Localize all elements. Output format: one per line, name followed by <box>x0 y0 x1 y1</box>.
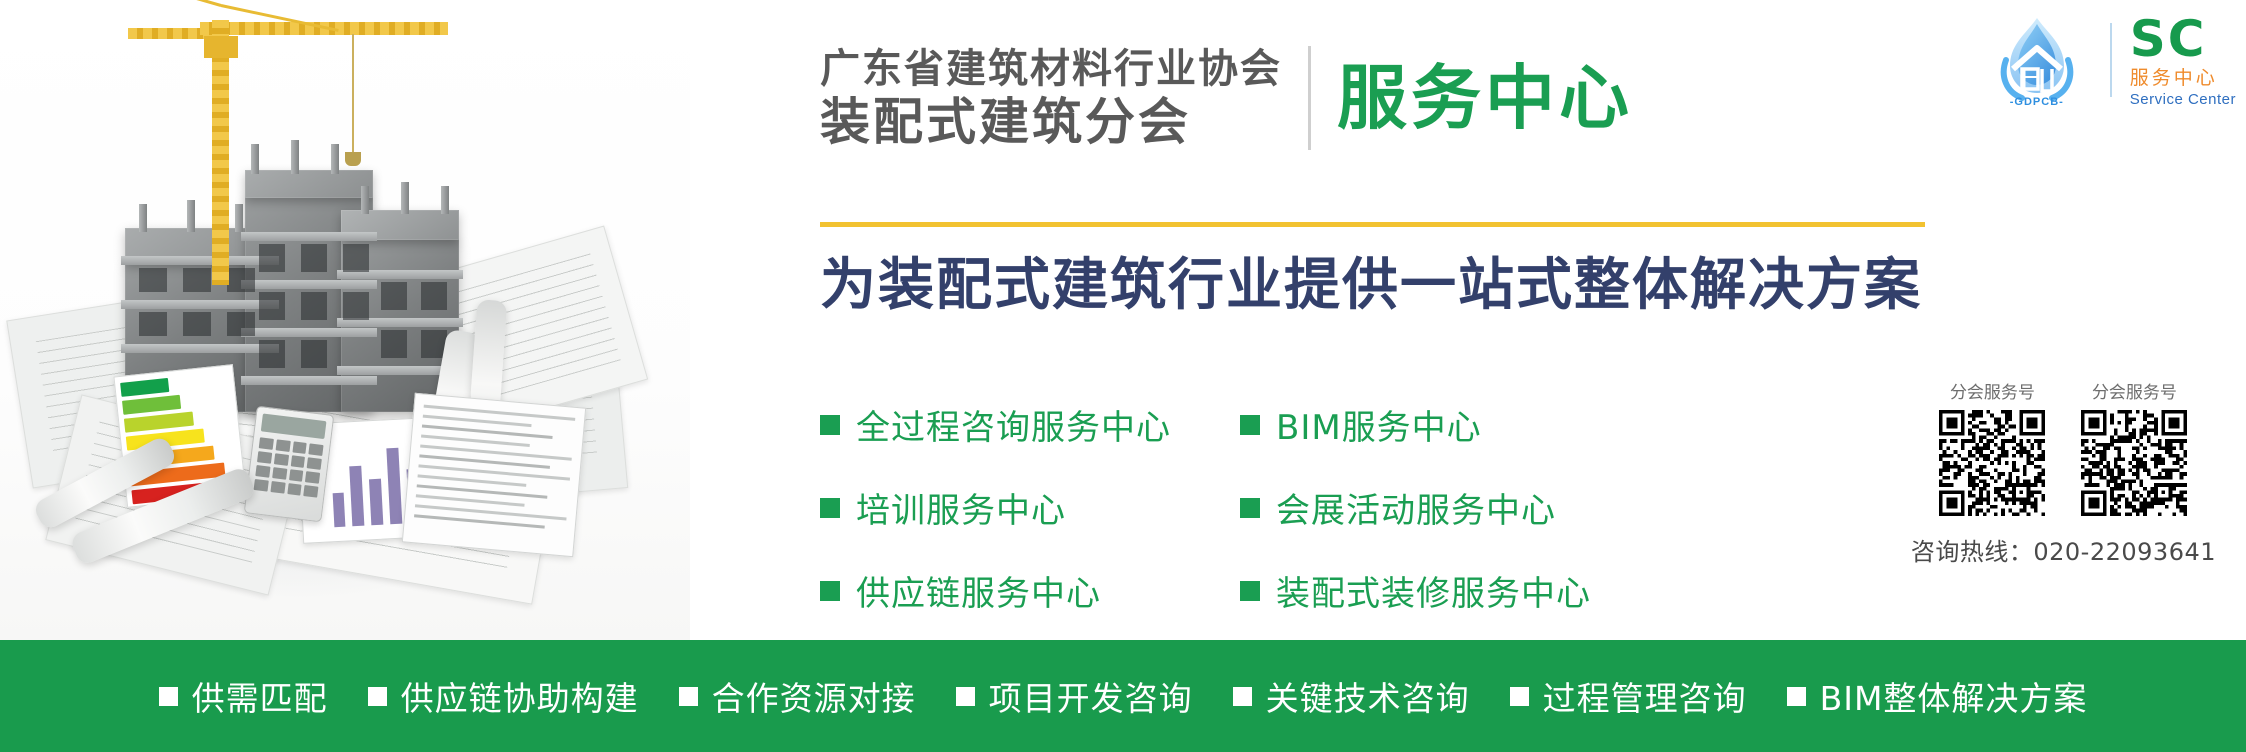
footer-item-4[interactable]: 项目开发咨询 <box>956 672 1193 720</box>
square-bullet-icon <box>368 687 387 706</box>
service-list: 全过程咨询服务中心 BIM服务中心 培训服务中心 会展活动服务中心 供应链服务中… <box>820 400 1880 615</box>
qr-code-image[interactable] <box>1939 410 2045 516</box>
service-item-label: 供应链服务中心 <box>856 566 1101 615</box>
service-item-label: 装配式装修服务中心 <box>1276 566 1591 615</box>
footer-keyword-bar: 供需匹配 供应链协助构建 合作资源对接 项目开发咨询 关键技术咨询 过程管理咨询… <box>0 640 2246 752</box>
square-bullet-icon <box>820 581 840 601</box>
footer-item-2[interactable]: 供应链协助构建 <box>368 672 639 720</box>
square-bullet-icon <box>1510 687 1529 706</box>
hotline-text: 咨询热线：020-22093641 <box>1911 532 2216 567</box>
square-bullet-icon <box>679 687 698 706</box>
logo-english-text: Service Center <box>2130 92 2236 107</box>
square-bullet-icon <box>820 415 840 435</box>
square-bullet-icon <box>159 687 178 706</box>
footer-item-7[interactable]: BIM整体解决方案 <box>1787 672 2088 720</box>
square-bullet-icon <box>820 498 840 518</box>
subtitle: 为装配式建筑行业提供一站式整体解决方案 <box>820 252 1922 319</box>
crane-cab <box>204 36 238 58</box>
square-bullet-icon <box>956 687 975 706</box>
content-area: 广东省建筑材料行业协会 装配式建筑分会 服务中心 为装配式建筑行业提供一站式整体… <box>690 0 2246 640</box>
square-bullet-icon <box>1233 687 1252 706</box>
square-bullet-icon <box>1240 415 1260 435</box>
footer-item-label: 关键技术咨询 <box>1266 672 1470 720</box>
square-bullet-icon <box>1240 498 1260 518</box>
building-model <box>95 110 490 410</box>
service-item-6[interactable]: 装配式装修服务中心 <box>1240 566 1660 615</box>
crane-hook <box>345 152 361 166</box>
footer-item-label: BIM整体解决方案 <box>1820 672 2088 720</box>
qr-code-item-1[interactable]: 分会服务号 <box>1939 378 2045 516</box>
service-item-label: 会展活动服务中心 <box>1276 483 1556 532</box>
logo-sc-text: SC <box>2130 14 2236 64</box>
footer-item-5[interactable]: 关键技术咨询 <box>1233 672 1470 720</box>
service-item-3[interactable]: 培训服务中心 <box>820 483 1240 532</box>
qr-code-item-2[interactable]: 分会服务号 <box>2081 378 2187 516</box>
qr-contact-block: 分会服务号 分会服务号 咨询热线：020-22093641 <box>1911 378 2216 567</box>
house-flame-logo-icon: -GDPCB- <box>1982 14 2092 106</box>
footer-item-3[interactable]: 合作资源对接 <box>679 672 916 720</box>
logo-separator <box>2110 23 2112 97</box>
square-bullet-icon <box>1240 581 1260 601</box>
footer-item-label: 供需匹配 <box>192 672 328 720</box>
organization-name: 广东省建筑材料行业协会 装配式建筑分会 <box>820 49 1282 147</box>
service-item-5[interactable]: 供应链服务中心 <box>820 566 1240 615</box>
service-item-2[interactable]: BIM服务中心 <box>1240 400 1660 449</box>
footer-item-6[interactable]: 过程管理咨询 <box>1510 672 1747 720</box>
qr-label: 分会服务号 <box>2081 378 2187 403</box>
service-item-label: BIM服务中心 <box>1276 400 1482 449</box>
gold-rule <box>820 222 1925 227</box>
calculator <box>244 406 335 523</box>
promotional-banner: 广东省建筑材料行业协会 装配式建筑分会 服务中心 为装配式建筑行业提供一站式整体… <box>0 0 2246 752</box>
title-row: 广东省建筑材料行业协会 装配式建筑分会 服务中心 <box>820 46 1633 150</box>
qr-code-image[interactable] <box>2081 410 2187 516</box>
organization-line-2: 装配式建筑分会 <box>820 97 1282 147</box>
hero-image <box>0 0 690 640</box>
service-item-1[interactable]: 全过程咨询服务中心 <box>820 400 1240 449</box>
service-item-label: 培训服务中心 <box>856 483 1066 532</box>
logo-wordmark: SC 服务中心 Service Center <box>2130 14 2236 107</box>
service-item-label: 全过程咨询服务中心 <box>856 400 1171 449</box>
logo-chinese-text: 服务中心 <box>2130 69 2236 88</box>
service-center-title: 服务中心 <box>1337 63 1633 133</box>
qr-label: 分会服务号 <box>1939 378 2045 403</box>
footer-item-label: 项目开发咨询 <box>989 672 1193 720</box>
crane-hoist-line <box>352 34 354 154</box>
form-document <box>402 393 586 557</box>
organization-line-1: 广东省建筑材料行业协会 <box>820 49 1282 89</box>
title-divider <box>1308 46 1311 150</box>
crane-mast <box>212 20 229 285</box>
footer-item-label: 供应链协助构建 <box>401 672 639 720</box>
footer-item-label: 合作资源对接 <box>712 672 916 720</box>
qr-code-group: 分会服务号 分会服务号 <box>1939 378 2187 516</box>
footer-item-label: 过程管理咨询 <box>1543 672 1747 720</box>
square-bullet-icon <box>1787 687 1806 706</box>
service-item-4[interactable]: 会展活动服务中心 <box>1240 483 1660 532</box>
logo-caption: -GDPCB- <box>1982 96 2092 108</box>
footer-item-1[interactable]: 供需匹配 <box>159 672 328 720</box>
brand-logo[interactable]: -GDPCB- SC 服务中心 Service Center <box>1982 14 2236 106</box>
